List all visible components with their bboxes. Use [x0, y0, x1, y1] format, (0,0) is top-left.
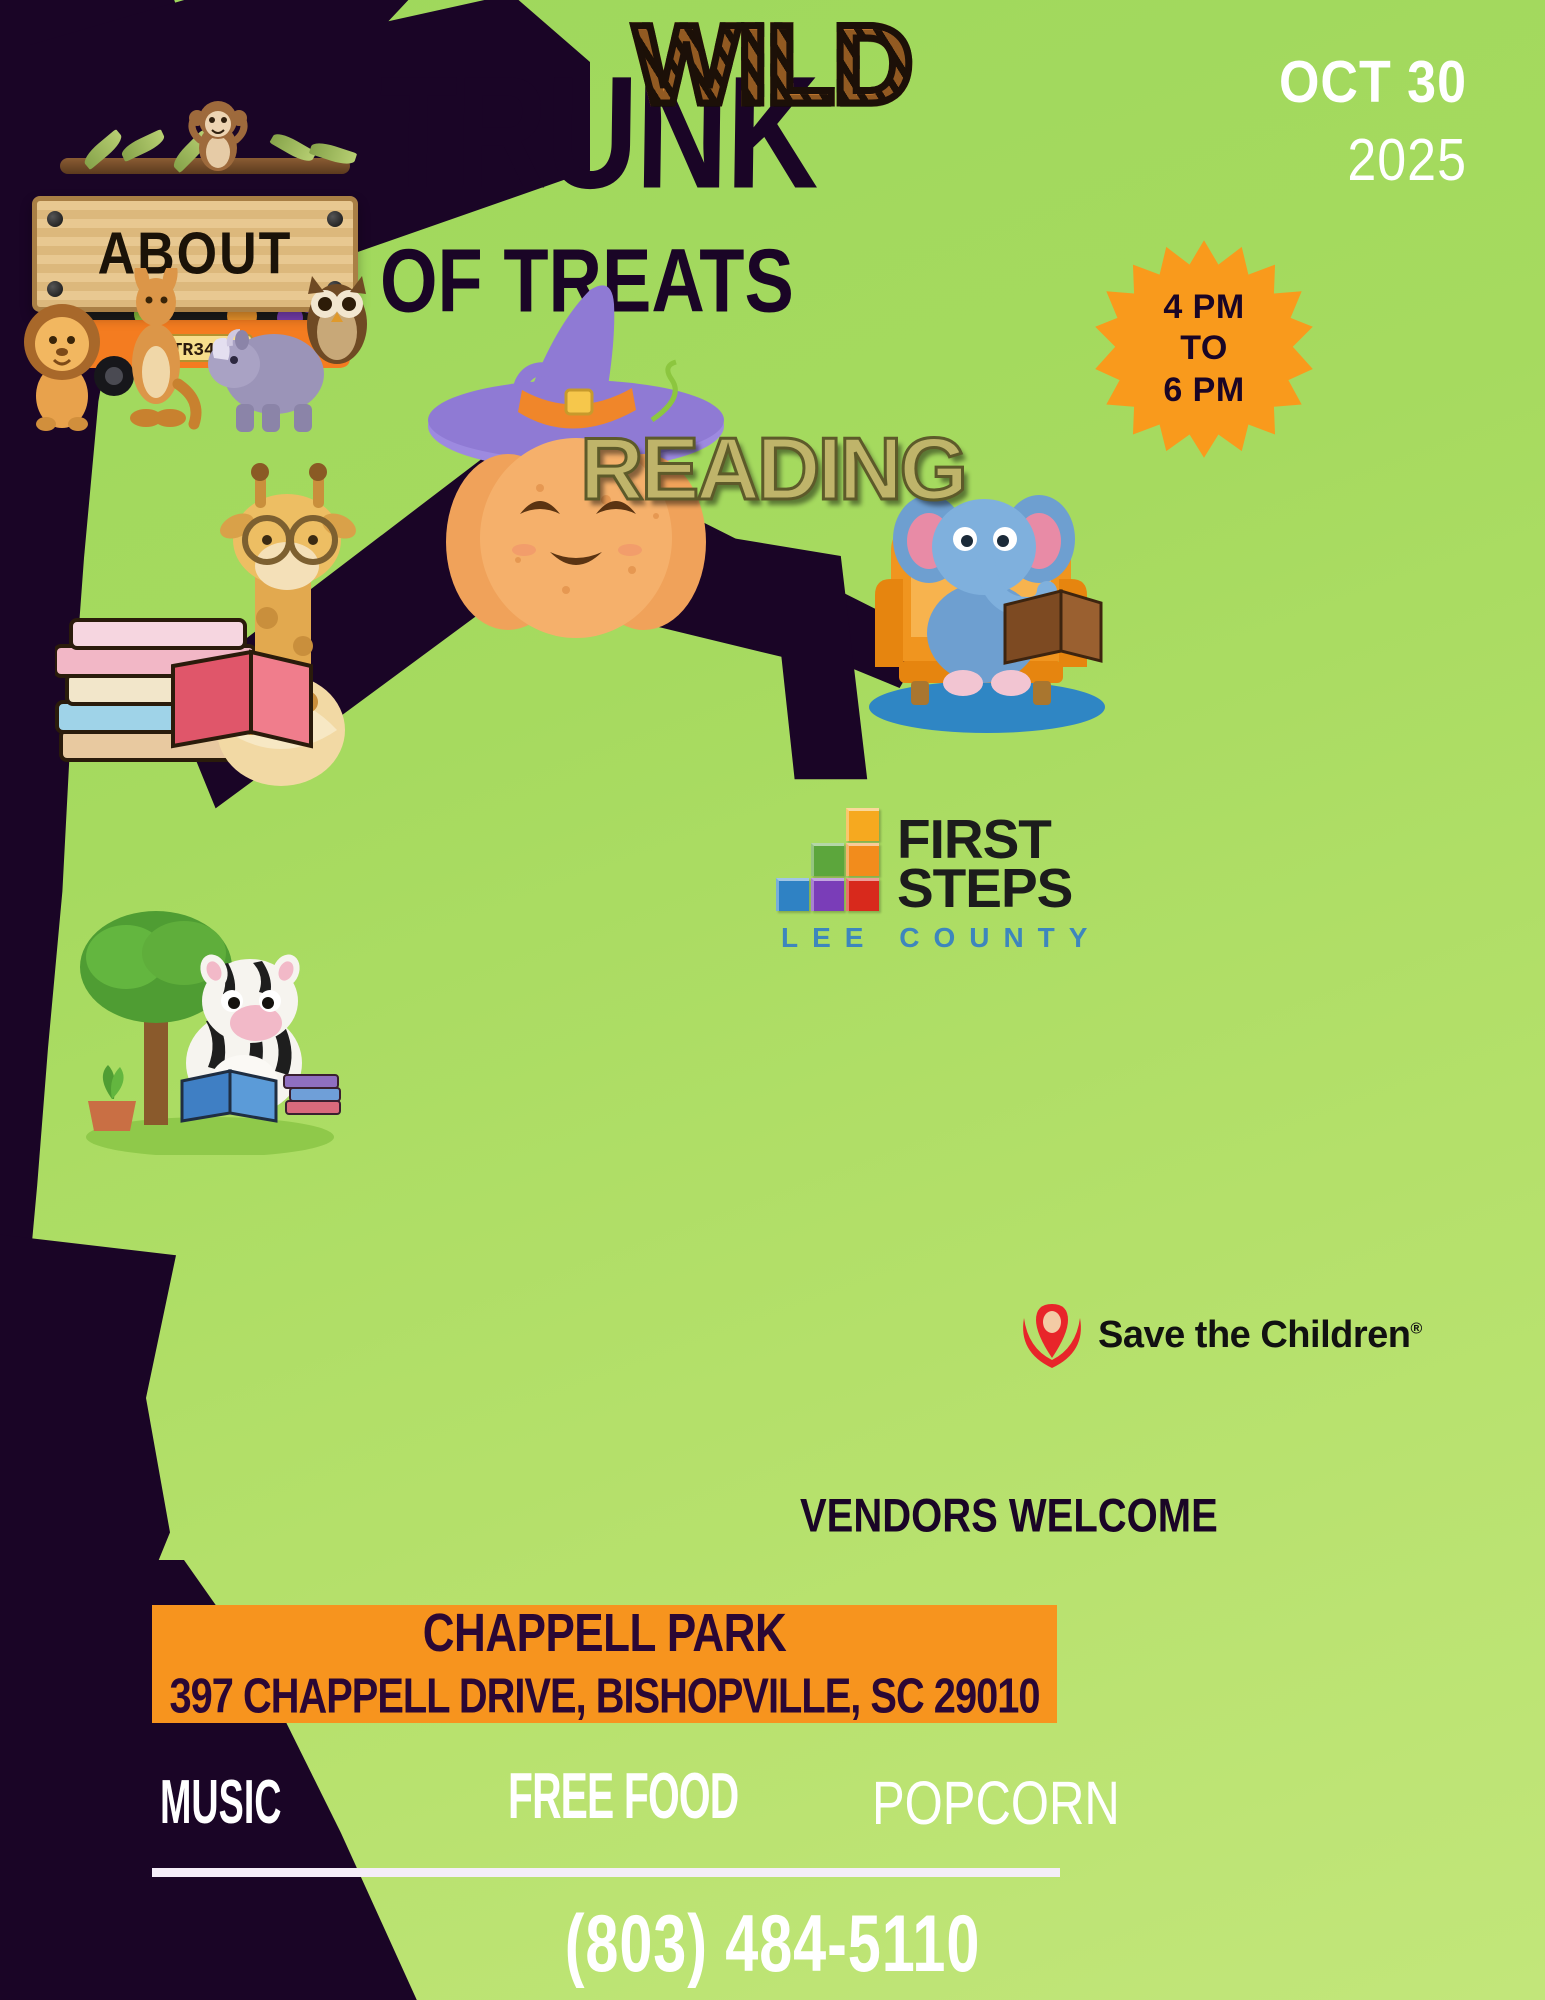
block-red	[846, 878, 879, 911]
block-orange-mid	[846, 843, 879, 876]
screw-icon	[327, 211, 343, 227]
venue-address: 397 CHAPPELL DRIVE, BISHOPVILLE, SC 2901…	[169, 1668, 1039, 1724]
venue-name: CHAPPELL PARK	[423, 1603, 786, 1664]
time-separator: TO	[1180, 328, 1228, 369]
block-orange-top	[846, 808, 879, 841]
monkey-icon	[182, 96, 254, 174]
flyer-canvas: TR34TS TRUNK OF TREATS OCT 30 2025 4 PM …	[0, 0, 1545, 2000]
zebra-reading-icon	[78, 905, 343, 1155]
screw-icon	[47, 281, 63, 297]
save-the-children-name: Save the Children®	[1098, 1314, 1422, 1357]
lion-icon	[16, 300, 108, 432]
stc-wordmark: Save the Children	[1098, 1314, 1410, 1356]
contact-phone: (803) 484-5110	[77, 1897, 1468, 1990]
first-steps-county: LEE COUNTY	[781, 922, 1185, 954]
screw-icon	[47, 211, 63, 227]
owl-icon	[300, 262, 374, 370]
save-the-children-logo: Save the Children®	[1018, 1300, 1422, 1370]
wild-word-bottom: READING	[0, 418, 1545, 520]
event-date-year: 2025	[1279, 126, 1467, 195]
kangaroo-icon	[112, 268, 204, 432]
time-start: 4 PM	[1163, 287, 1244, 328]
vendors-welcome-text: VENDORS WELCOME	[800, 1490, 1218, 1543]
perk-popcorn: POPCORN	[872, 1768, 1120, 1839]
perk-music: MUSIC	[160, 1765, 282, 1838]
divider	[152, 1868, 1060, 1877]
time-end: 6 PM	[1163, 370, 1244, 411]
registered-trademark-icon: ®	[1410, 1320, 1421, 1337]
child-figure-icon	[1018, 1300, 1086, 1370]
wild-about-reading-logo: WILD ABOUT	[0, 0, 390, 520]
first-steps-blocks-icon	[775, 808, 879, 912]
block-purple	[811, 878, 844, 911]
venue-banner: CHAPPELL PARK 397 CHAPPELL DRIVE, BISHOP…	[152, 1605, 1057, 1723]
block-blue	[776, 878, 809, 911]
first-steps-line2: STEPS	[897, 864, 1072, 912]
perk-free-food: FREE FOOD	[508, 1760, 738, 1834]
first-steps-logo: FIRST STEPS LEE COUNTY	[775, 808, 1185, 954]
block-green	[811, 843, 844, 876]
